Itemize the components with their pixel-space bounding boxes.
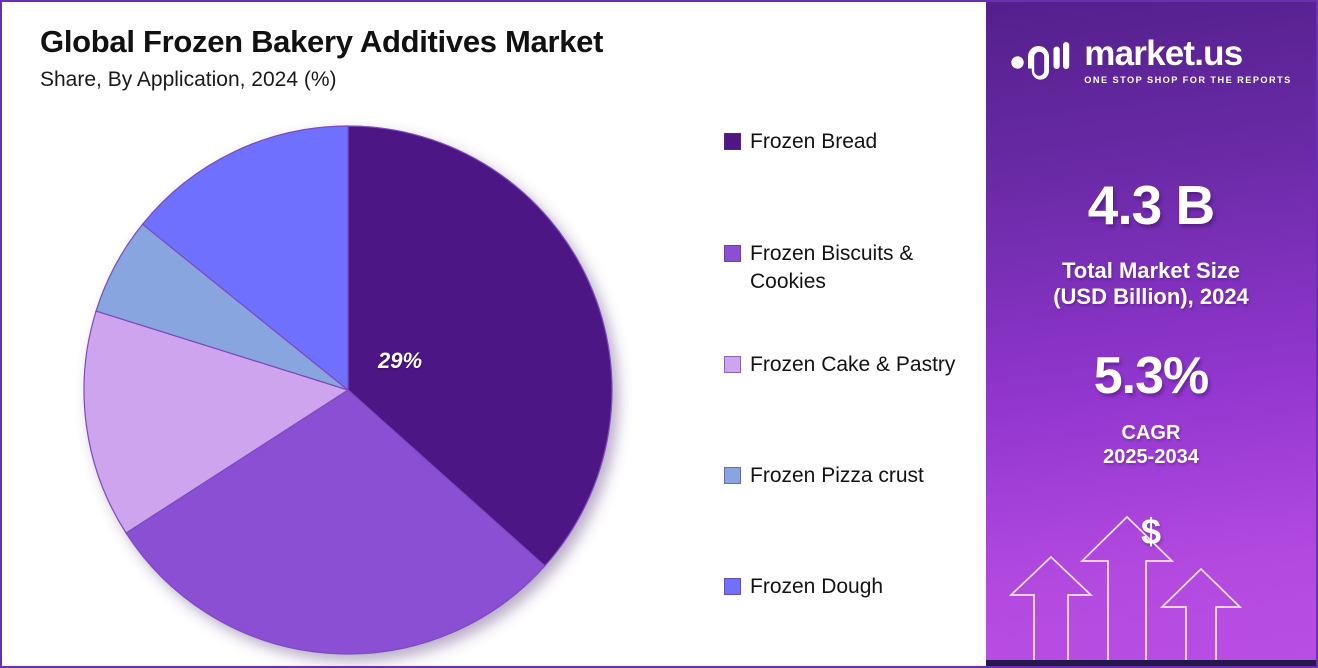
legend-swatch-icon <box>724 245 741 262</box>
legend-swatch-icon <box>724 133 741 150</box>
legend-swatch-icon <box>724 467 741 484</box>
brand-tagline: ONE STOP SHOP FOR THE REPORTS <box>1084 75 1291 85</box>
cagr-value: 5.3% <box>986 350 1316 402</box>
legend-item-label: Frozen Cake & Pastry <box>750 351 955 379</box>
market-size-caption-line2: (USD Billion), 2024 <box>986 284 1316 310</box>
legend-item[interactable]: Frozen Biscuits & Cookies <box>724 240 982 295</box>
cagr-caption: CAGR 2025-2034 <box>986 422 1316 469</box>
cagr-caption-line1: CAGR <box>986 422 1316 446</box>
cagr-caption-line2: 2025-2034 <box>986 446 1316 470</box>
panel-bottom-strip <box>986 660 1316 666</box>
legend-item[interactable]: Frozen Cake & Pastry <box>724 351 982 379</box>
pie-chart: 29% <box>78 120 618 660</box>
page-subtitle: Share, By Application, 2024 (%) <box>40 68 920 92</box>
infographic-root: Global Frozen Bakery Additives Market Sh… <box>0 0 1318 668</box>
growth-arrows-icon <box>986 495 1316 660</box>
brand-name: market.us <box>1084 36 1291 71</box>
pie-chart-svg <box>78 120 618 660</box>
chart-panel: Global Frozen Bakery Additives Market Sh… <box>2 2 988 666</box>
brand-logo[interactable]: market.us ONE STOP SHOP FOR THE REPORTS <box>986 34 1316 86</box>
legend-item[interactable]: Frozen Dough <box>724 573 982 601</box>
legend-item[interactable]: Frozen Bread <box>724 128 982 156</box>
title-block: Global Frozen Bakery Additives Market Sh… <box>40 24 920 92</box>
brand-text: market.us ONE STOP SHOP FOR THE REPORTS <box>1084 36 1291 85</box>
page-title: Global Frozen Bakery Additives Market <box>40 24 920 60</box>
legend-item-label: Frozen Bread <box>750 128 877 156</box>
legend-swatch-icon <box>724 578 741 595</box>
stats-panel: market.us ONE STOP SHOP FOR THE REPORTS … <box>986 2 1316 666</box>
legend-item-label: Frozen Dough <box>750 573 883 601</box>
market-size-value: 4.3 B <box>986 178 1316 233</box>
legend-item-label: Frozen Biscuits & Cookies <box>750 240 982 295</box>
market-us-logo-icon <box>1010 34 1072 86</box>
legend-swatch-icon <box>724 356 741 373</box>
market-size-caption-line1: Total Market Size <box>986 258 1316 284</box>
legend-item-label: Frozen Pizza crust <box>750 462 924 490</box>
pie-slice-group <box>84 126 612 654</box>
legend-item[interactable]: Frozen Pizza crust <box>724 462 982 490</box>
market-size-caption: Total Market Size (USD Billion), 2024 <box>986 258 1316 310</box>
